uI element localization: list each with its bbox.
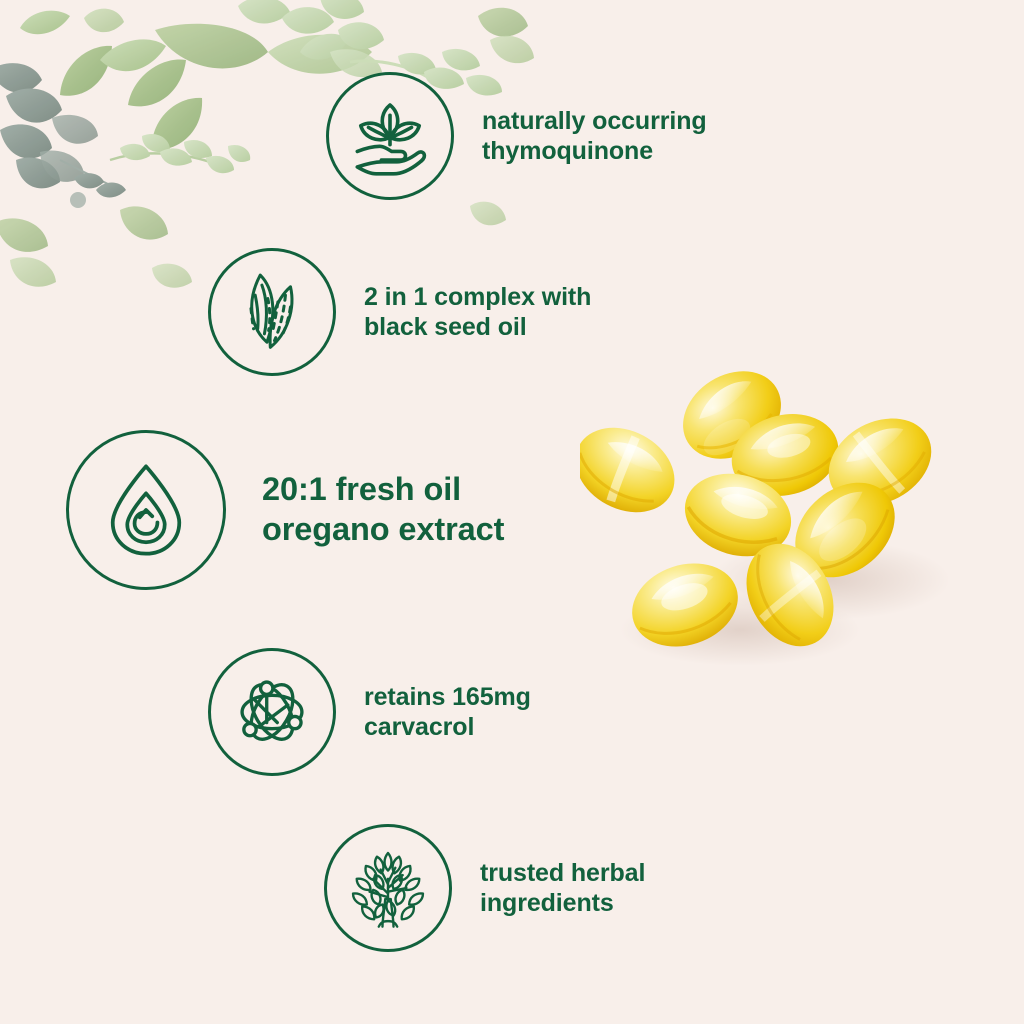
- oil-droplet-spiral-icon: [94, 458, 198, 562]
- feature-item-2: 2 in 1 complex with black seed oil: [208, 248, 591, 376]
- feature-item-5: trusted herbal ingredients: [324, 824, 645, 952]
- infographic-canvas: naturally occurring thymoquinone 2 in 1 …: [0, 0, 1024, 1024]
- softgel-capsules-image: [580, 330, 980, 680]
- black-seeds-icon: [230, 270, 314, 354]
- icon-badge-5: [324, 824, 452, 952]
- icon-badge-4: [208, 648, 336, 776]
- herbal-tree-icon: [342, 842, 434, 934]
- feature-item-3: 20:1 fresh oil oregano extract: [66, 430, 504, 590]
- icon-badge-3: [66, 430, 226, 590]
- feature-item-4: retains 165mg carvacrol: [208, 648, 531, 776]
- feature-label-4: retains 165mg carvacrol: [364, 682, 531, 743]
- feature-label-1: naturally occurring thymoquinone: [482, 106, 707, 167]
- feature-item-1: naturally occurring thymoquinone: [326, 72, 707, 200]
- feature-label-2: 2 in 1 complex with black seed oil: [364, 282, 591, 343]
- atom-molecule-icon: [228, 668, 316, 756]
- hand-holding-sprout-icon: [347, 93, 433, 179]
- feature-label-3: 20:1 fresh oil oregano extract: [262, 470, 504, 549]
- icon-badge-2: [208, 248, 336, 376]
- icon-badge-1: [326, 72, 454, 200]
- feature-label-5: trusted herbal ingredients: [480, 858, 645, 919]
